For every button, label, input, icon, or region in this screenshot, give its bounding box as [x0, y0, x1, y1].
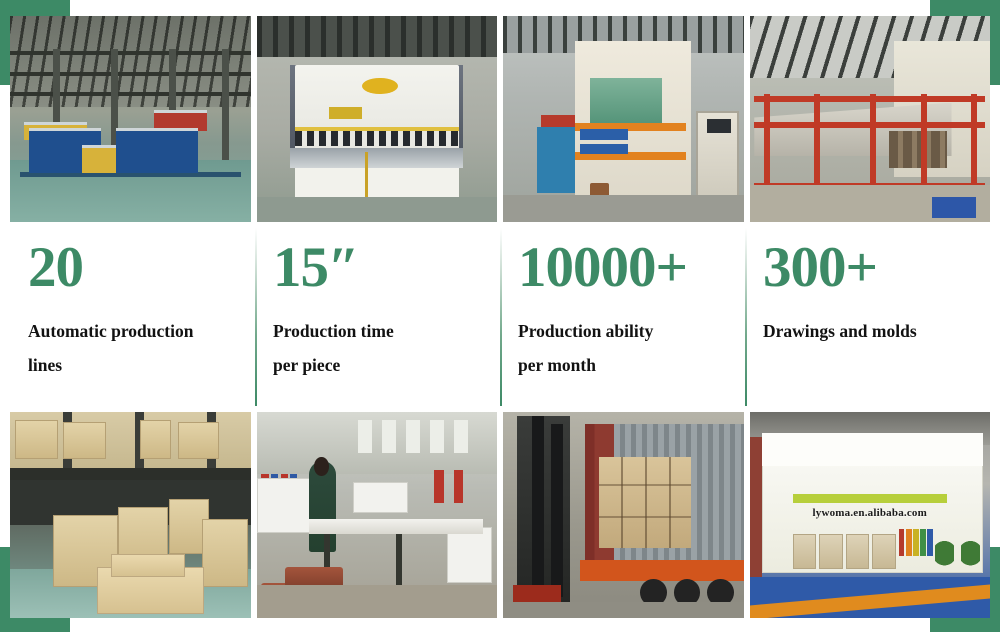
stat-number: 10000+: [518, 238, 745, 298]
stat-label-line1: Drawings and molds: [763, 314, 988, 348]
stat-label: Production ability per month: [518, 314, 743, 382]
stats-row: 20 Automatic production lines 15″ Produc…: [10, 232, 990, 404]
stat-label-line1: Production time: [273, 314, 498, 348]
photo-exhibition-booth: lywoma.en.alibaba.com: [750, 412, 991, 618]
photo-coating-line: [750, 16, 991, 222]
stat-label: Production time per piece: [273, 314, 498, 382]
info-banner: 20 Automatic production lines 15″ Produc…: [0, 0, 1000, 632]
bottom-photo-row: lywoma.en.alibaba.com: [10, 412, 990, 618]
stat-number: 300+: [763, 238, 990, 298]
image-watermark: lywoma.en.alibaba.com: [750, 507, 991, 519]
photo-warehouse: [10, 412, 251, 618]
stat-card-2: 10000+ Production ability per month: [500, 232, 745, 404]
stat-label: Drawings and molds: [763, 314, 988, 348]
stat-card-3: 300+ Drawings and molds: [745, 232, 990, 404]
photo-worker-inspection: [257, 412, 498, 618]
stat-label-line2: per piece: [273, 348, 498, 382]
stat-label: Automatic production lines: [28, 314, 253, 382]
stat-label-line2: lines: [28, 348, 253, 382]
stat-number: 15″: [273, 238, 500, 298]
stat-card-1: 15″ Production time per piece: [255, 232, 500, 404]
photo-production-line: [10, 16, 251, 222]
stat-label-line2: per month: [518, 348, 743, 382]
photo-container-loading: [503, 412, 744, 618]
stat-label-line1: Automatic production: [28, 314, 253, 348]
stat-card-0: 20 Automatic production lines: [10, 232, 255, 404]
photo-press-brake: [257, 16, 498, 222]
stat-number: 20: [28, 238, 255, 298]
photo-punch-press: [503, 16, 744, 222]
stat-label-line1: Production ability: [518, 314, 743, 348]
top-photo-row: [10, 16, 990, 222]
